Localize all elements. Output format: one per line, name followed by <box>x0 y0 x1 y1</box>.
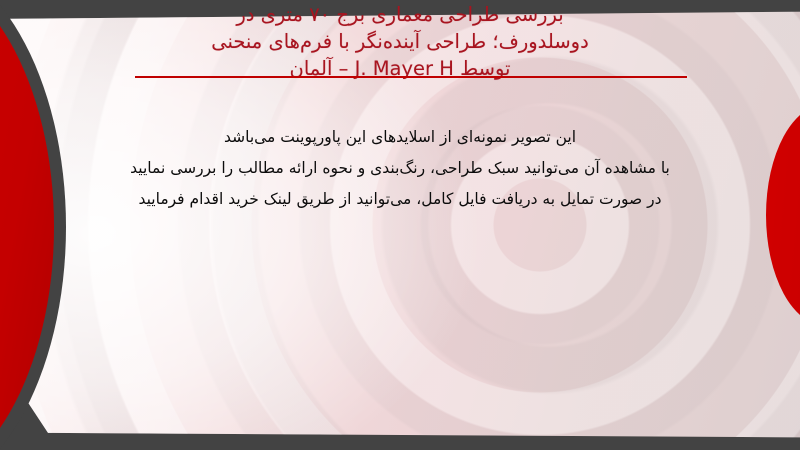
slide-content: بررسی طراحی معماری برج ۷۰ متری در دوسلدو… <box>0 0 800 450</box>
title-divider-line <box>135 76 687 78</box>
slide-body-line-1: این تصویر نمونه‌ای از اسلایدهای این پاور… <box>34 122 766 153</box>
slide-body-text: این تصویر نمونه‌ای از اسلایدهای این پاور… <box>0 122 800 215</box>
slide-title: بررسی طراحی معماری برج ۷۰ متری در دوسلدو… <box>0 1 800 82</box>
slide-body-line-3: در صورت تمایل به دریافت فایل کامل، می‌تو… <box>34 184 766 215</box>
slide-title-line-2: دوسلدورف؛ طراحی آینده‌نگر با فرم‌های منح… <box>40 28 760 55</box>
slide-title-line-1: بررسی طراحی معماری برج ۷۰ متری در <box>40 1 760 28</box>
presentation-slide: بررسی طراحی معماری برج ۷۰ متری در دوسلدو… <box>0 0 800 450</box>
slide-body-line-2: با مشاهده آن می‌توانید سبک طراحی، رنگ‌بن… <box>34 153 766 184</box>
